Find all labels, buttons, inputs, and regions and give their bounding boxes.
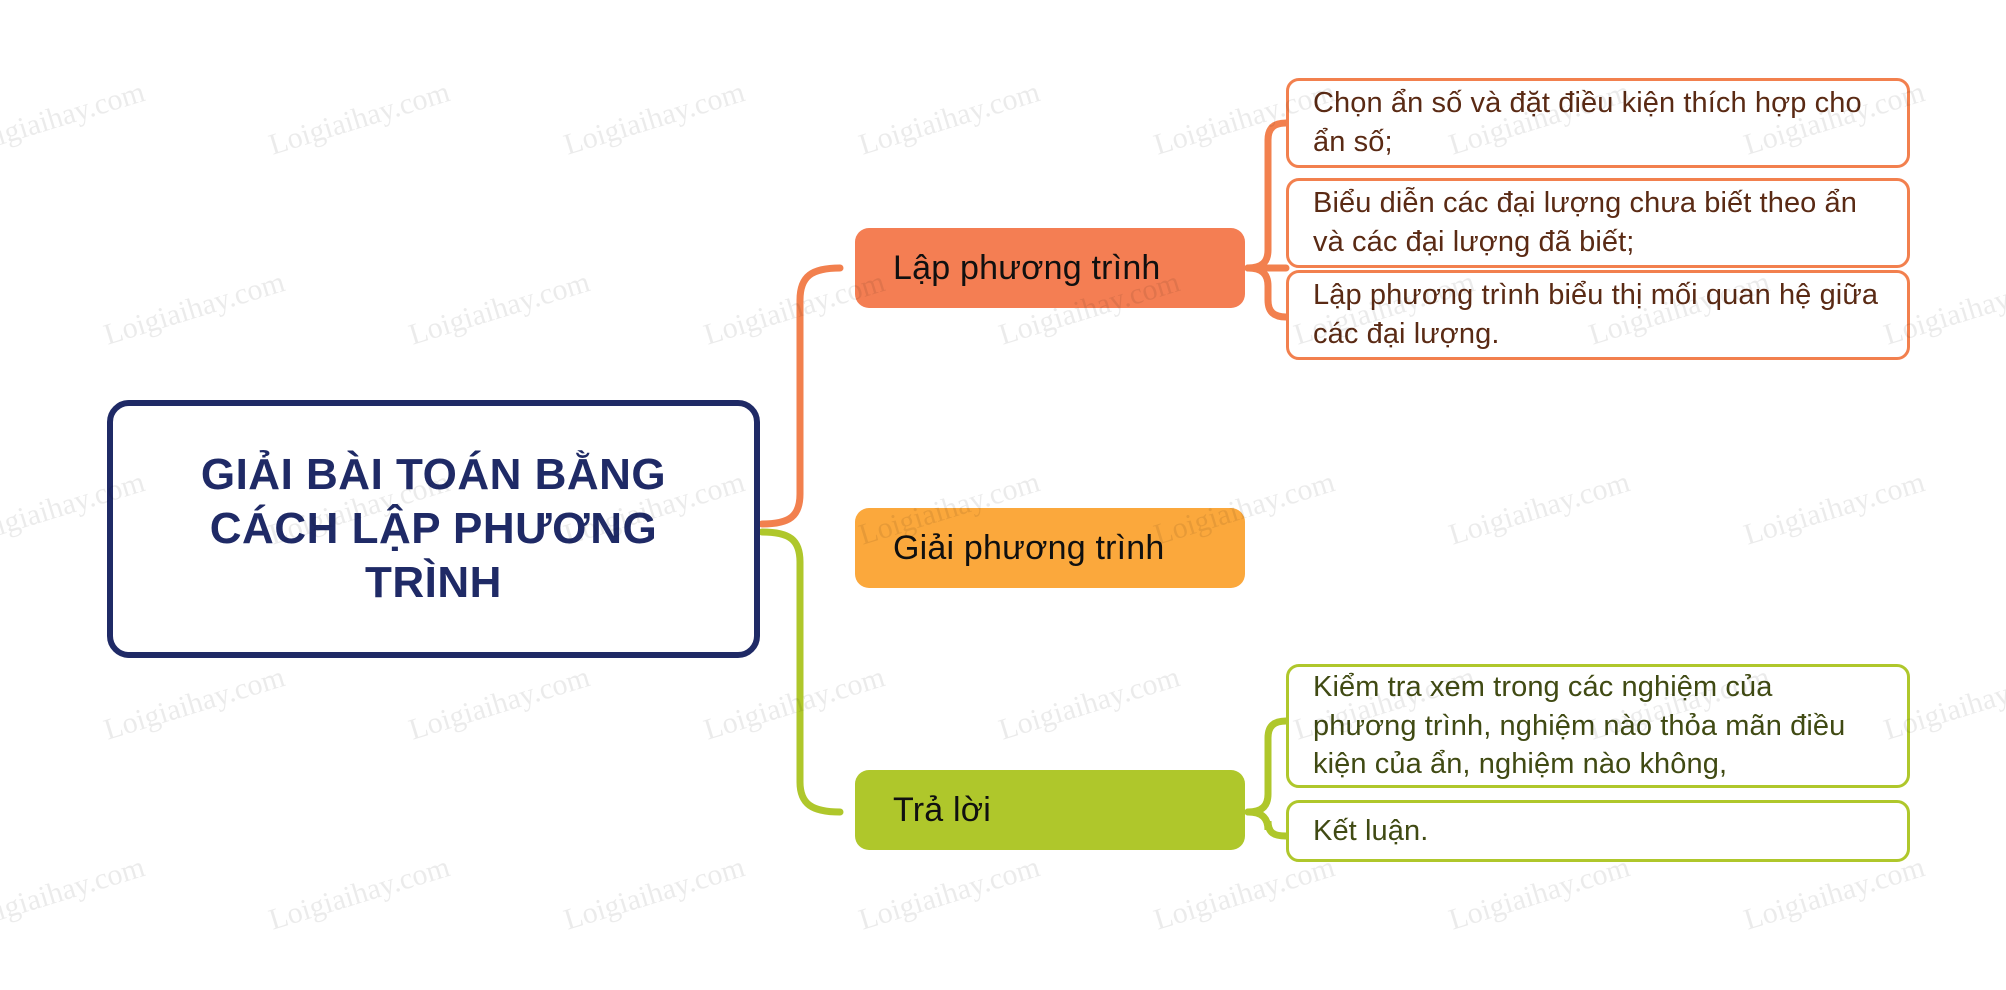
- leaf-lap-item-3[interactable]: Lập phương trình biểu thị mối quan hệ gi…: [1286, 270, 1910, 360]
- mindmap-canvas: GIẢI BÀI TOÁN BẰNG CÁCH LẬP PHƯƠNG TRÌNH…: [0, 0, 2006, 990]
- leaf-text: Chọn ẩn số và đặt điều kiện thích hợp ch…: [1289, 84, 1907, 161]
- connector-lap-bracket-low: [1248, 268, 1286, 317]
- leaf-tra-item-1[interactable]: Kiểm tra xem trong các nghiệm của phương…: [1286, 664, 1910, 788]
- leaf-text: Kết luận.: [1289, 812, 1452, 851]
- root-title: GIẢI BÀI TOÁN BẰNG CÁCH LẬP PHƯƠNG TRÌNH: [113, 448, 754, 610]
- branch-giai-phuong-trinh[interactable]: Giải phương trình: [855, 508, 1245, 588]
- connector-lap-bracket: [1248, 123, 1286, 268]
- leaf-lap-item-2[interactable]: Biểu diễn các đại lượng chưa biết theo ẩ…: [1286, 178, 1910, 268]
- leaf-text: Biểu diễn các đại lượng chưa biết theo ẩ…: [1289, 184, 1907, 261]
- leaf-lap-item-1[interactable]: Chọn ẩn số và đặt điều kiện thích hợp ch…: [1286, 78, 1910, 168]
- root-node[interactable]: GIẢI BÀI TOÁN BẰNG CÁCH LẬP PHƯƠNG TRÌNH: [107, 400, 760, 658]
- connector-root-to-tra: [762, 532, 840, 812]
- branch-label: Lập phương trình: [855, 249, 1161, 288]
- branch-label: Trả lời: [855, 791, 991, 830]
- branch-label: Giải phương trình: [855, 529, 1164, 568]
- leaf-text: Lập phương trình biểu thị mối quan hệ gi…: [1289, 276, 1907, 353]
- leaf-text: Kiểm tra xem trong các nghiệm của phương…: [1289, 668, 1907, 784]
- branch-lap-phuong-trinh[interactable]: Lập phương trình: [855, 228, 1245, 308]
- branch-tra-loi[interactable]: Trả lời: [855, 770, 1245, 850]
- connector-root-to-lap: [762, 268, 840, 524]
- connector-tra-bracket-down: [1248, 812, 1286, 836]
- connector-tra-bracket-up: [1248, 721, 1286, 812]
- leaf-tra-item-2[interactable]: Kết luận.: [1286, 800, 1910, 862]
